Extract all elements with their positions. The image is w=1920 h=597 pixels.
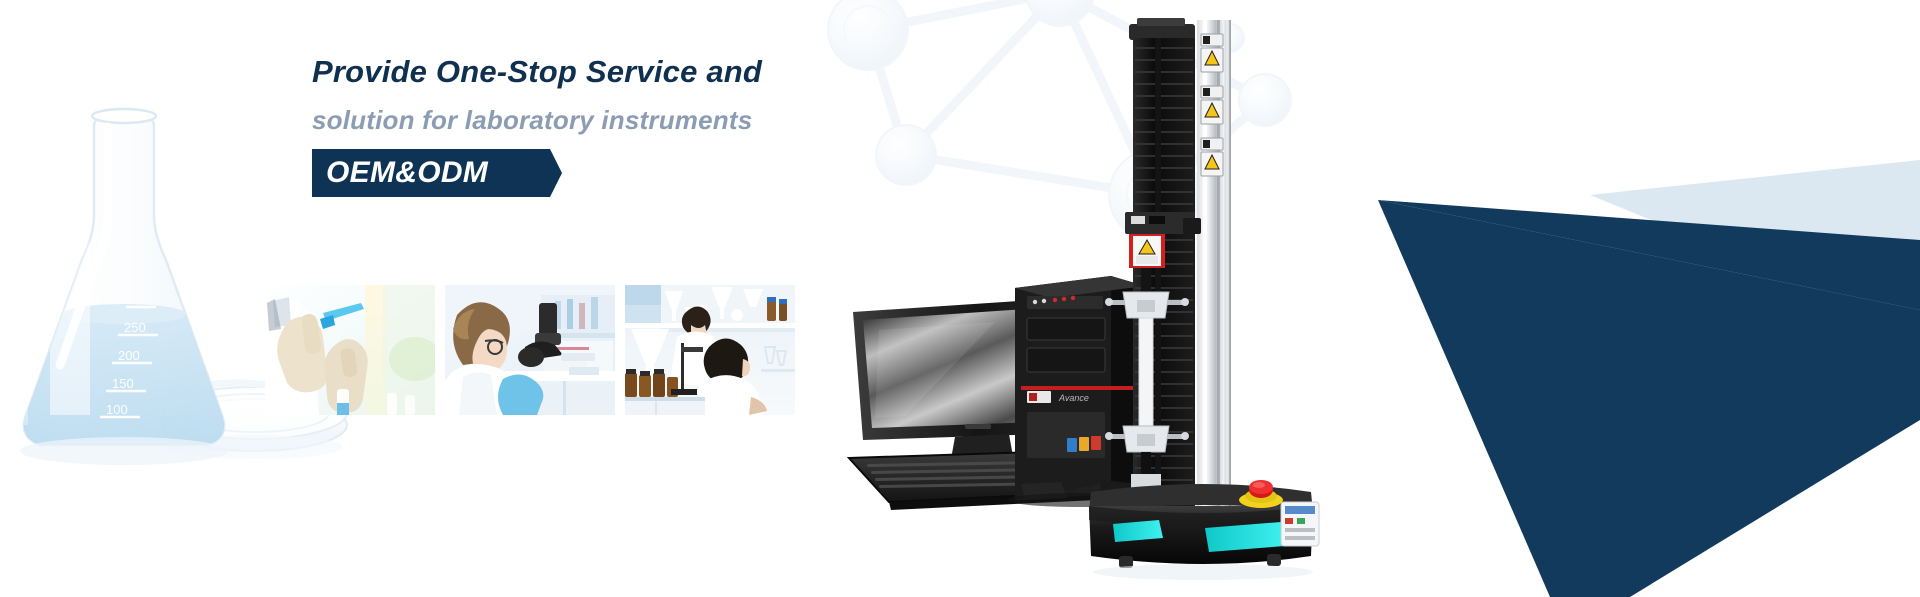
promo-banner: 250 200 150 100 ml Provide One-Stop Serv… bbox=[0, 0, 1920, 597]
control-panel bbox=[1281, 502, 1319, 546]
universal-testing-machine bbox=[1085, 0, 1325, 597]
photo-microscope bbox=[445, 285, 615, 415]
warning-labels bbox=[1201, 34, 1223, 176]
flask-graduation-150: 150 bbox=[112, 376, 134, 391]
photo-strip bbox=[265, 285, 795, 415]
photo-pipetting bbox=[265, 285, 435, 415]
flask-graduation-250: 250 bbox=[124, 320, 146, 335]
erlenmeyer-flask-icon: 250 200 150 100 ml bbox=[0, 109, 250, 465]
oem-odm-badge: OEM&ODM bbox=[312, 149, 562, 197]
dark-arrow-shape bbox=[1378, 200, 1920, 597]
light-triangle-shape bbox=[1590, 160, 1920, 330]
flask-unit-label: ml bbox=[86, 293, 99, 307]
flask-graduation-200: 200 bbox=[118, 348, 140, 363]
flask-graduation-100: 100 bbox=[106, 402, 128, 417]
photo-lab-bench bbox=[625, 285, 795, 415]
dark-arrow-shape-upper bbox=[1378, 200, 1920, 310]
oem-odm-badge-label: OEM&ODM bbox=[326, 156, 488, 190]
